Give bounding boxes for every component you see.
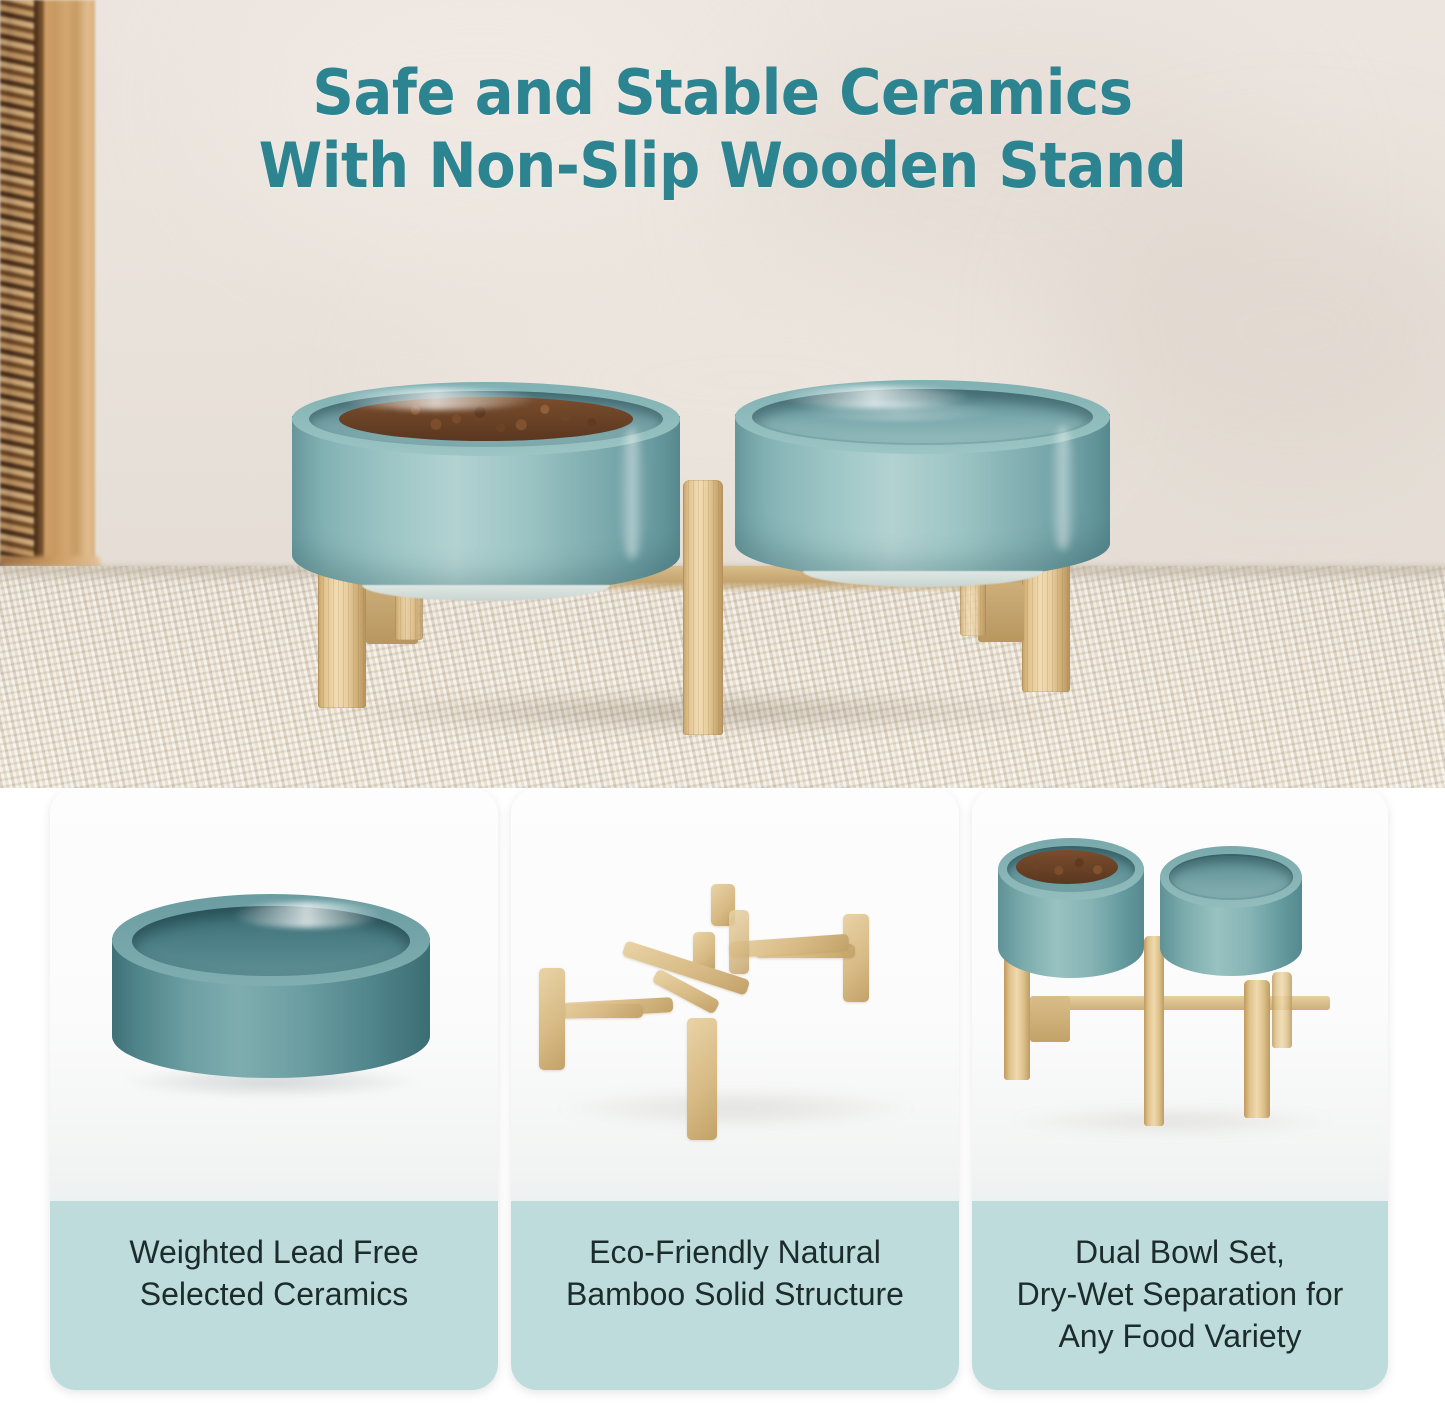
card-photo-single-bowl — [50, 788, 498, 1201]
card-photo-dual-bowl-set — [972, 788, 1388, 1201]
water-content — [1170, 856, 1292, 898]
set-stand-stub-left — [1030, 996, 1070, 1042]
set-bowl-right-water — [1160, 846, 1302, 976]
dual-bowl-set — [972, 788, 1388, 1201]
set-shadow — [1002, 1106, 1342, 1136]
stand-leg-back-right — [729, 910, 749, 974]
stand-leg-far-right — [843, 914, 869, 1002]
feature-card-weighted-ceramics[interactable]: Weighted Lead Free Selected Ceramics — [50, 788, 498, 1390]
set-stand-leg-right — [1244, 980, 1270, 1118]
single-ceramic-bowl — [112, 894, 430, 1090]
card-caption-weighted-ceramics: Weighted Lead Free Selected Ceramics — [50, 1201, 498, 1390]
kibble-food — [1016, 850, 1118, 884]
bowl-side-highlight — [619, 428, 645, 559]
page-title: Safe and Stable Ceramics With Non-Slip W… — [51, 56, 1395, 202]
bowl-highlight — [339, 388, 533, 410]
card-caption-dual-bowl-set: Dual Bowl Set, Dry-Wet Separation for An… — [972, 1201, 1388, 1390]
bamboo-stand-frame — [511, 788, 959, 1201]
bowl-highlight — [232, 902, 382, 928]
hero-bowl-right-water — [735, 380, 1110, 580]
hero-bowl-left-food — [292, 382, 680, 594]
feature-card-bamboo-structure[interactable]: Eco-Friendly Natural Bamboo Solid Struct… — [511, 788, 959, 1390]
set-stand-leg-back-right — [1272, 972, 1292, 1048]
card-photo-bamboo-stand — [511, 788, 959, 1201]
stand-shadow — [551, 1088, 921, 1128]
stand-leg-far-left — [539, 968, 565, 1070]
feature-card-dual-bowl-set[interactable]: Dual Bowl Set, Dry-Wet Separation for An… — [972, 788, 1388, 1390]
card-caption-bamboo-structure: Eco-Friendly Natural Bamboo Solid Struct… — [511, 1201, 959, 1390]
stand-center-post — [683, 480, 723, 735]
bowl-highlight — [780, 386, 968, 408]
stand-leg-front — [687, 1018, 717, 1140]
set-bowl-left-food — [998, 838, 1144, 978]
feature-card-row: Weighted Lead Free Selected Ceramics — [0, 788, 1445, 1406]
